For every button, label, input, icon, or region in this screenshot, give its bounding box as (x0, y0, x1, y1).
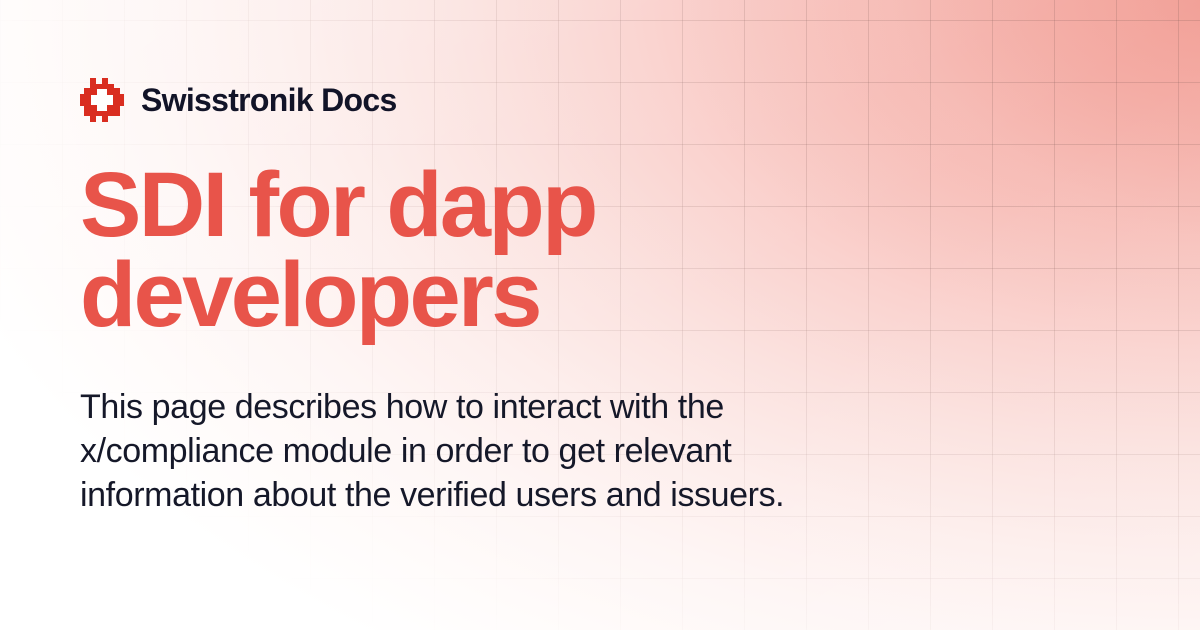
card-content: Swisstronik Docs SDI for dapp developers… (80, 0, 1120, 630)
swisstronik-cog-icon (80, 78, 124, 122)
brand-lockup: Swisstronik Docs (80, 78, 397, 122)
og-card: Swisstronik Docs SDI for dapp developers… (0, 0, 1200, 630)
page-description: This page describes how to interact with… (80, 385, 870, 517)
page-title: SDI for dapp developers (80, 160, 680, 340)
brand-name: Swisstronik Docs (141, 84, 397, 116)
